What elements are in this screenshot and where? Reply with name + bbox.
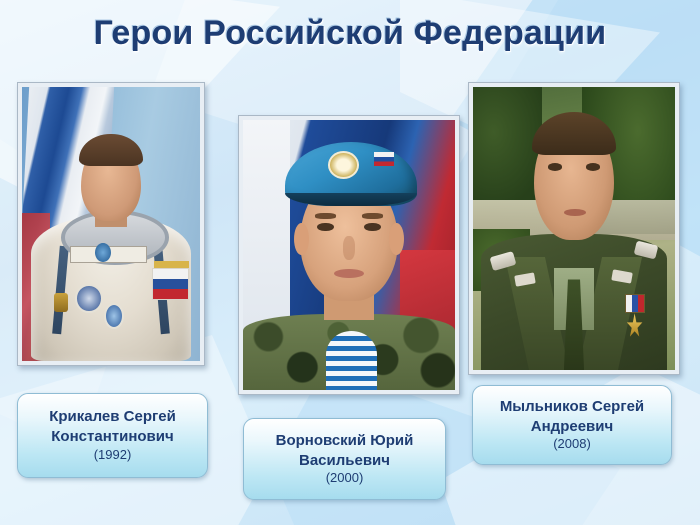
eyebrow-left bbox=[315, 213, 336, 218]
gold-insignia bbox=[54, 293, 68, 312]
nose bbox=[343, 236, 356, 260]
photo-cosmonaut-portrait bbox=[22, 87, 200, 361]
beret-flag-pin-icon bbox=[374, 152, 393, 166]
mouth bbox=[334, 269, 364, 278]
eye-right bbox=[364, 223, 381, 232]
uniform-badge-icon bbox=[501, 333, 525, 353]
ear-right bbox=[389, 223, 404, 255]
photo-frame-krikalev bbox=[17, 82, 205, 366]
eyebrow-right bbox=[362, 213, 383, 218]
hero-year: (2008) bbox=[553, 436, 591, 453]
telnyashka-striped-shirt bbox=[326, 331, 377, 390]
hero-name-line1: Крикалев Сергей bbox=[49, 407, 176, 427]
hero-name-line2: Андреевич bbox=[531, 417, 613, 437]
caption-vornovskiy: Ворновский Юрий Васильевич (2000) bbox=[243, 418, 446, 500]
slide-title: Герои Российской Федерации bbox=[0, 14, 700, 53]
mouth bbox=[564, 209, 586, 216]
ear-left bbox=[294, 223, 309, 255]
caption-krikalev: Крикалев Сергей Константинович (1992) bbox=[17, 393, 208, 478]
eye-right bbox=[586, 163, 600, 170]
hero-name-line2: Васильевич bbox=[299, 451, 390, 471]
mission-emblem bbox=[75, 284, 102, 313]
hero-year: (2000) bbox=[326, 470, 364, 487]
russia-flag-patch bbox=[152, 268, 190, 300]
hero-name-line1: Мыльников Сергей bbox=[500, 397, 644, 417]
photo-paratrooper-portrait bbox=[243, 120, 455, 390]
photo-frame-vornovskiy bbox=[238, 115, 460, 395]
photo-officer-portrait bbox=[473, 87, 675, 370]
photo-frame-mylnikov bbox=[468, 82, 680, 375]
hero-year: (1992) bbox=[94, 447, 132, 464]
hero-name-line1: Ворновский Юрий bbox=[276, 431, 414, 451]
caption-mylnikov: Мыльников Сергей Андреевич (2008) bbox=[472, 385, 672, 465]
hero-name-line2: Константинович bbox=[51, 427, 173, 447]
slide-canvas: Герои Российской Федерации bbox=[0, 0, 700, 525]
eye-left bbox=[548, 163, 562, 170]
medal-ribbon-tricolor bbox=[625, 294, 645, 313]
